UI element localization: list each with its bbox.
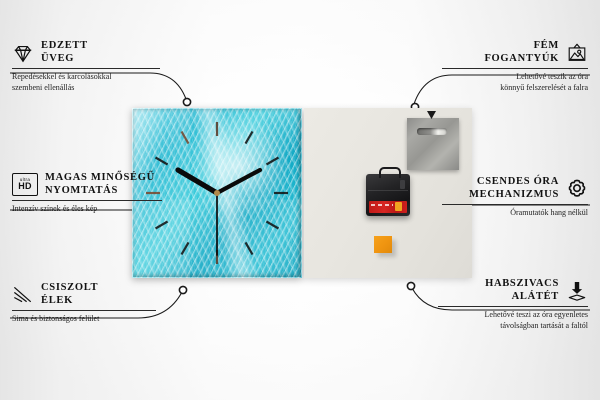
callout-edzett-uveg: EDZETT ÜVEG Repedésekkel és karcolásokka… — [12, 40, 160, 93]
callout-divider — [442, 204, 588, 205]
callout-header: HABSZIVACS ALÁTÉT — [438, 278, 588, 303]
connector-dot-csiszolt-elek — [179, 286, 186, 293]
callout-magas-minosegu-nyomtatas: ultra HD MAGAS MINŐSÉGŰ NYOMTATÁS Intenz… — [12, 172, 162, 215]
callout-divider — [438, 306, 588, 307]
battery-label — [369, 201, 407, 213]
callout-header: CSISZOLT ÉLEK — [12, 282, 156, 307]
connector-dot-habszivacs — [407, 282, 414, 289]
callout-fem-fogantyuk: FÉM FOGANTYÚK Lehetővé teszik az óra kön… — [442, 40, 588, 93]
foam-spacer-pad — [374, 236, 392, 253]
callout-title: FÉM FOGANTYÚK — [484, 40, 559, 65]
foam-pad-arrow-icon — [566, 280, 588, 302]
callout-header: CSENDES ÓRA MECHANIZMUS — [442, 176, 588, 201]
callout-title: CSISZOLT ÉLEK — [41, 282, 98, 307]
callout-description: Intenzív színek és éles kép — [12, 204, 162, 215]
callout-description: Lehetővé teszi az óra egyenletes távolsá… — [438, 310, 588, 331]
callout-description: Sima és biztonságos felület — [12, 314, 156, 325]
diamond-icon — [12, 42, 34, 64]
callout-header: ultra HD MAGAS MINŐSÉGŰ NYOMTATÁS — [12, 172, 162, 197]
battery-plus-marker — [395, 202, 402, 211]
callout-title: CSENDES ÓRA MECHANIZMUS — [469, 176, 559, 201]
movement-seam — [368, 190, 408, 191]
callout-title: HABSZIVACS ALÁTÉT — [485, 278, 559, 303]
callout-habszivacs-alatet: HABSZIVACS ALÁTÉT Lehetővé teszi az óra … — [438, 278, 588, 331]
callout-divider — [12, 68, 160, 69]
movement-hanger-loop — [379, 167, 401, 178]
infographic-stage: EDZETT ÜVEG Repedésekkel és karcolásokka… — [0, 0, 600, 400]
bevelled-edge-icon — [12, 284, 34, 306]
hanger-keyhole-slot — [417, 128, 447, 135]
metal-hanger-plate — [407, 118, 459, 170]
callout-header: FÉM FOGANTYÚK — [442, 40, 588, 65]
gear-icon — [566, 178, 588, 200]
callout-description: Lehetővé teszik az óra könnyű felszerelé… — [442, 72, 588, 93]
ultra-hd-icon: ultra HD — [12, 173, 38, 196]
ultra-hd-icon-main-label: HD — [18, 182, 31, 191]
battery-label-text — [371, 204, 393, 206]
quartz-movement — [366, 174, 410, 216]
callout-header: EDZETT ÜVEG — [12, 40, 160, 65]
callout-description: Óramutatók hang nélkül — [442, 208, 588, 219]
callout-description: Repedésekkel és karcolásokkal szembeni e… — [12, 72, 160, 93]
callout-csendes-ora-mechanizmus: CSENDES ÓRA MECHANIZMUS Óramutatók hang … — [442, 176, 588, 219]
callout-csiszolt-elek: CSISZOLT ÉLEK Sima és biztonságos felüle… — [12, 282, 156, 325]
callout-title: EDZETT ÜVEG — [41, 40, 88, 65]
callout-divider — [12, 200, 162, 201]
callout-divider — [442, 68, 588, 69]
wall-nail-icon — [427, 111, 436, 119]
movement-set-knob — [400, 180, 405, 189]
product-image — [132, 108, 472, 280]
connector-dot-edzett-uveg — [183, 98, 190, 105]
callout-title: MAGAS MINŐSÉGŰ NYOMTATÁS — [45, 172, 155, 197]
picture-hanger-icon — [566, 42, 588, 64]
callout-divider — [12, 310, 156, 311]
